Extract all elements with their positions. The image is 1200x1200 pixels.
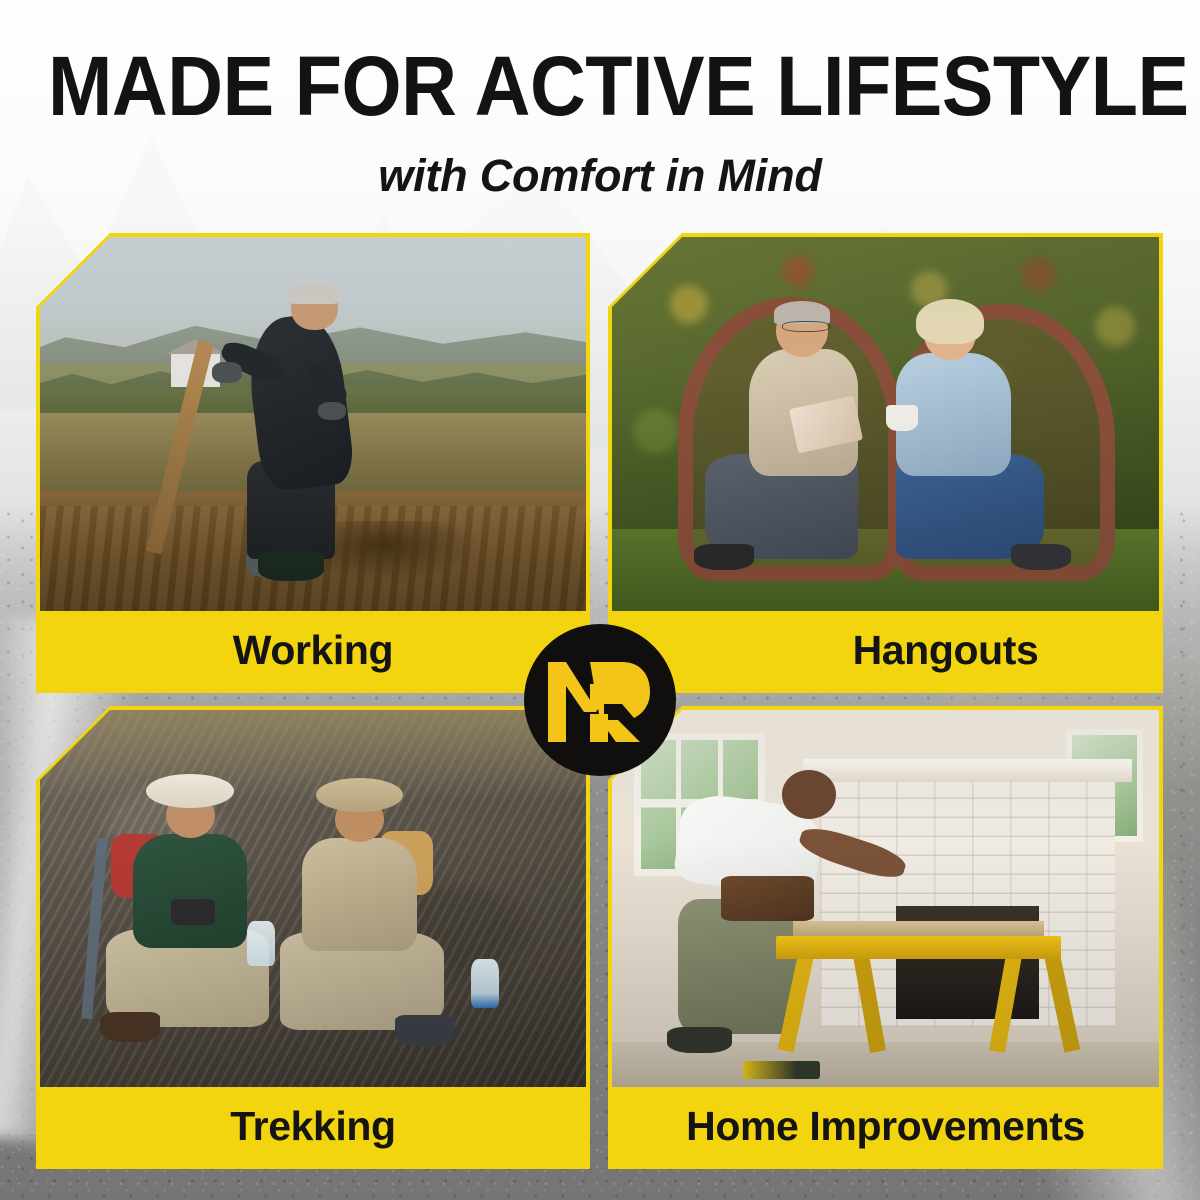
card-label-bar-hangouts: Hangouts <box>612 611 1159 689</box>
card-photo-hangouts <box>612 237 1159 611</box>
card-label-bar-working: Working <box>40 611 586 689</box>
brand-logo-badge[interactable]: MR <box>524 624 676 776</box>
card-photo-working <box>40 237 586 611</box>
mr-monogram-icon <box>544 654 656 746</box>
card-photo-home-improvements <box>612 710 1159 1087</box>
lifestyle-card-working[interactable]: Working <box>36 233 590 693</box>
scene-home-improvements <box>612 710 1159 1087</box>
card-label-bar-home-improvements: Home Improvements <box>612 1087 1159 1165</box>
lifestyle-card-home-improvements[interactable]: Home Improvements <box>608 706 1163 1169</box>
lifestyle-card-hangouts[interactable]: Hangouts <box>608 233 1163 693</box>
card-label-working: Working <box>233 630 393 671</box>
poster-canvas: MADE FOR ACTIVE LIFESTYLE with Comfort i… <box>0 0 1200 1200</box>
scene-hangouts <box>612 237 1159 611</box>
card-photo-trekking <box>40 710 586 1087</box>
card-label-home-improvements: Home Improvements <box>686 1106 1085 1147</box>
card-label-hangouts: Hangouts <box>733 630 1039 671</box>
scene-trekking <box>40 710 586 1087</box>
card-label-bar-trekking: Trekking <box>40 1087 586 1165</box>
lifestyle-card-trekking[interactable]: Trekking <box>36 706 590 1169</box>
card-label-trekking: Trekking <box>230 1106 395 1147</box>
lifestyle-card-grid: Working <box>0 0 1200 1200</box>
scene-working <box>40 237 586 611</box>
